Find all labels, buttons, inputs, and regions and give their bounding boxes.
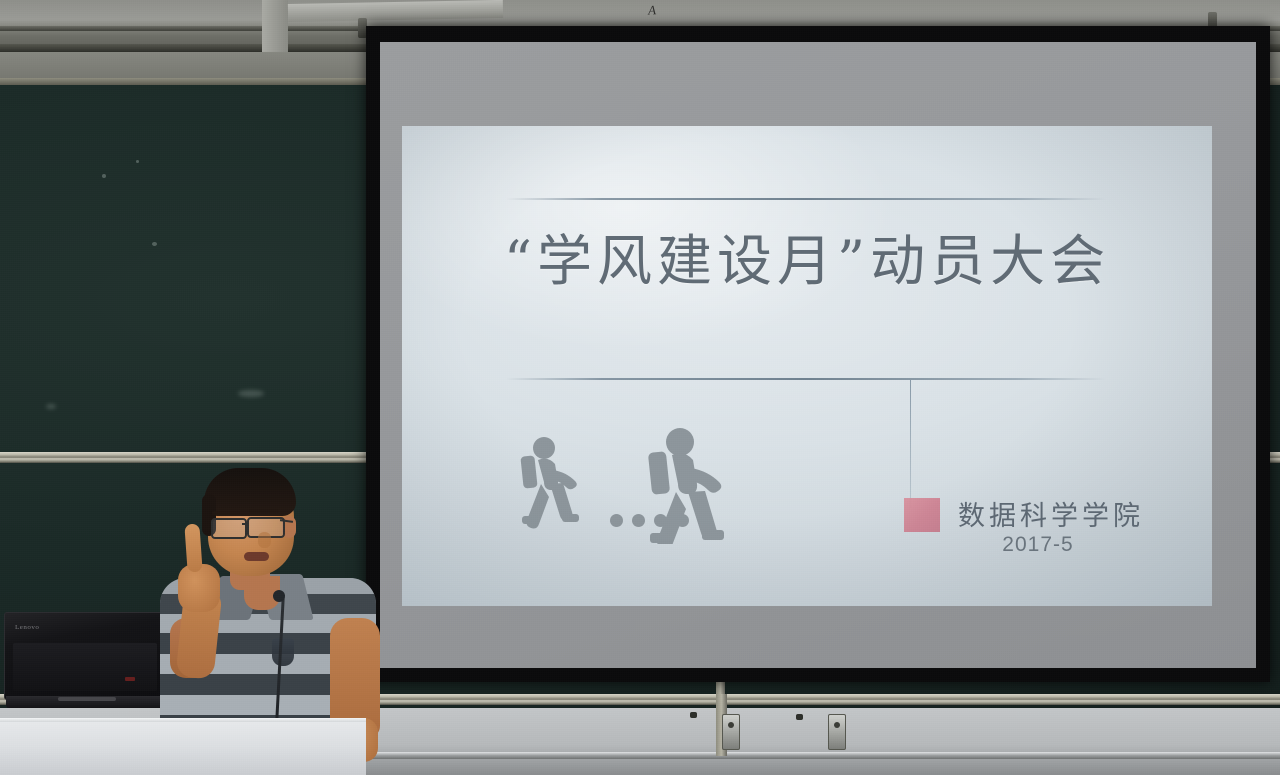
path-dot [676,514,689,527]
presenter-eyebrow [249,509,279,513]
path-dot [632,514,645,527]
podium-top-edge [0,718,366,722]
tray-bracket [828,714,846,750]
laptop[interactable]: Lenovo [4,612,170,712]
presenter-mouth [244,552,269,561]
decorative-rule-top [506,198,1106,200]
presentation-slide[interactable]: “学风建设月”动员大会 [402,126,1212,606]
podium [0,718,366,775]
dotted-path [610,514,711,527]
decorative-rule-bottom [506,378,1106,380]
slide-title: “学风建设月”动员大会 [402,234,1212,289]
tray-bracket [722,714,740,750]
presenter-eyebrow [212,511,240,515]
walking-students-icon [498,426,728,544]
tray-nub [796,714,803,720]
glasses-icon [211,518,247,539]
path-dot [698,514,711,527]
chalk-smudge [238,390,264,397]
chalk-speck [136,160,139,163]
ceiling-bar-logo: A [648,1,683,17]
presenter-left-hand [178,564,220,612]
path-dot [610,514,623,527]
shirt-crest-icon [272,638,294,666]
chalk-speck [152,242,157,246]
laptop-brand-label: Lenovo [15,623,39,630]
microphone-icon [273,590,285,602]
glasses-bridge [242,523,249,525]
decorative-vertical-line [910,380,911,508]
presenter-nose [258,532,271,548]
laptop-indicator-light [125,677,135,681]
chalk-speck [102,174,106,178]
laptop-lid: Lenovo [4,612,166,700]
institution-name: 数据科学学院 [958,494,1144,533]
ceiling-bracket [262,0,288,52]
tray-nub [690,712,697,718]
lecture-hall-scene: A “学风建设月”动员大会 [0,0,1280,775]
screen-surface: “学风建设月”动员大会 [380,42,1256,668]
institution-logo-icon [904,498,940,532]
pointing-finger [184,524,202,573]
laptop-hinge [58,697,116,701]
laptop-back-panel [13,643,157,691]
slide-branding: 数据科学学院 2017-5 [882,494,1182,574]
slide-date: 2017-5 [958,533,1118,557]
projection-screen[interactable]: “学风建设月”动员大会 [366,26,1270,682]
path-dot [654,514,667,527]
chalk-smudge [46,404,56,409]
